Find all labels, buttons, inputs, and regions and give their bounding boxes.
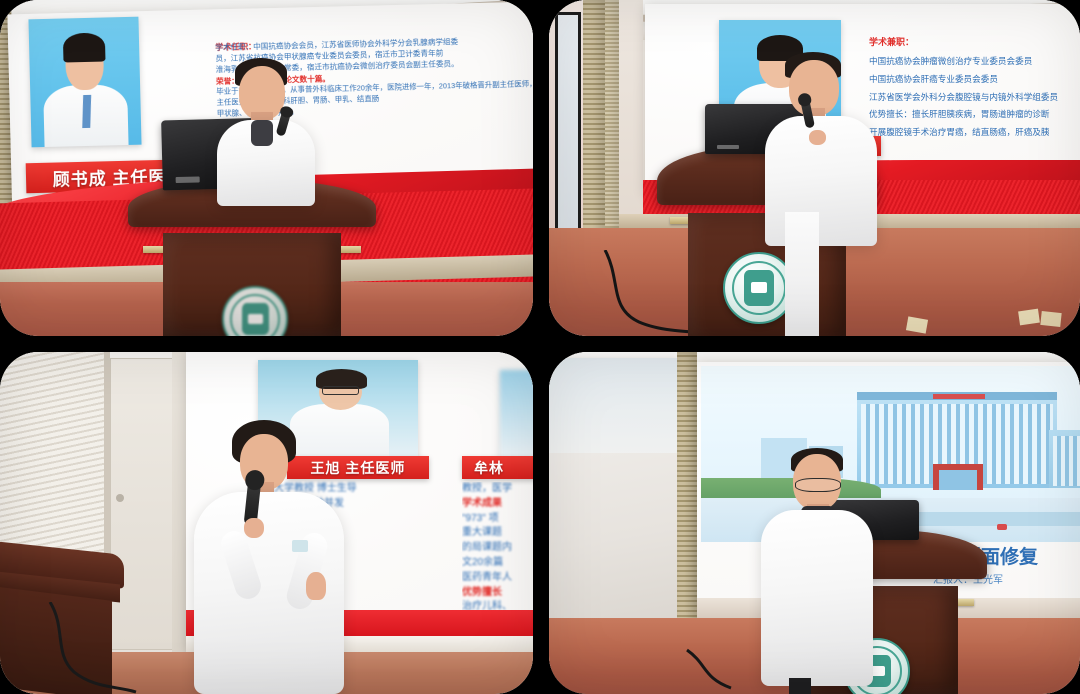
slide-right-line-0: 教授，医学 <box>462 482 533 497</box>
slide-heading-2-line: 优势擅长：擅长肝胆胰疾病，胃肠道肿瘤的诊断 <box>869 108 1080 121</box>
slide-right-line-6: 医药青年人 <box>462 571 533 586</box>
slide-line-3: 江苏省医学会外科分会腹腔镜与内镜外科学组委员 <box>869 91 1080 104</box>
slide-right-line-5: 文20余篇 <box>462 556 533 571</box>
slide-text-block: 学术兼职： 中国抗癌协会肿瘤微创治疗专业委员会委员 中国抗癌协会肝癌专业委员会委… <box>869 36 1080 139</box>
slide-right-line-3: 重大课题 <box>462 526 533 541</box>
slide-right-line-1: 学术成果 <box>462 497 533 512</box>
speaker-person <box>755 448 881 694</box>
photo-top-right: 师 学术兼职： 中国抗癌协会肿瘤微创治疗专业委员会委员 中国抗癌协会肝癌专业委员… <box>549 0 1080 336</box>
secondary-screen <box>549 358 677 654</box>
slide-portrait-secondary <box>500 370 533 460</box>
photo-top-left: 学术任职： 学术任职：中国抗癌协会会员，江苏省医师协会外科学分会乳腺病学组委 员… <box>0 0 533 336</box>
slide-line-5: 开展腹腔镜手术治疗胃癌，结直肠癌，肝癌及胰 <box>869 126 1080 139</box>
coat-badge <box>292 540 308 552</box>
door-handle[interactable] <box>116 494 124 502</box>
inner-shirt <box>251 120 273 146</box>
slide-portrait <box>28 17 141 148</box>
photo-bottom-right: 复医院创面修复 汇报人：王光军 <box>549 352 1080 694</box>
photo-bottom-left: 王旭 主任医师 牟林 医药大学教授 博士生导 糖尿病及其各种并发 减、甲状腺、桥… <box>0 352 533 694</box>
slide-badge-right: 牟林 <box>462 456 533 479</box>
photo-collage: 学术任职： 学术任职：中国抗癌协会会员，江苏省医师协会外科学分会乳腺病学组委 员… <box>0 0 1080 694</box>
white-coat <box>761 510 873 686</box>
hand-right-pointing <box>306 572 326 600</box>
slide-heading-1: 学术兼职： <box>869 36 1080 49</box>
speaker-person <box>188 420 378 694</box>
hand-left <box>244 518 264 538</box>
podium-cable <box>40 602 160 694</box>
side-screen <box>558 15 578 239</box>
speaker-person <box>195 58 325 198</box>
trousers <box>789 678 811 694</box>
slide-line-2: 中国抗癌协会肝癌专业委员会委员 <box>869 73 1080 86</box>
slide-line-1: 中国抗癌协会肿瘤微创治疗专业委员会委员 <box>869 55 1080 68</box>
slide-right-line-7: 优势擅长 <box>462 586 533 601</box>
coat-tail <box>785 212 819 336</box>
paper-3 <box>1040 311 1061 327</box>
glasses-icon <box>795 478 841 492</box>
speaker-person <box>759 52 889 242</box>
paper-2 <box>1018 309 1040 326</box>
slide-right-line-4: 的局课题内 <box>462 541 533 556</box>
hand <box>809 130 826 145</box>
slide-right-line-2: "973" 项 <box>462 512 533 527</box>
